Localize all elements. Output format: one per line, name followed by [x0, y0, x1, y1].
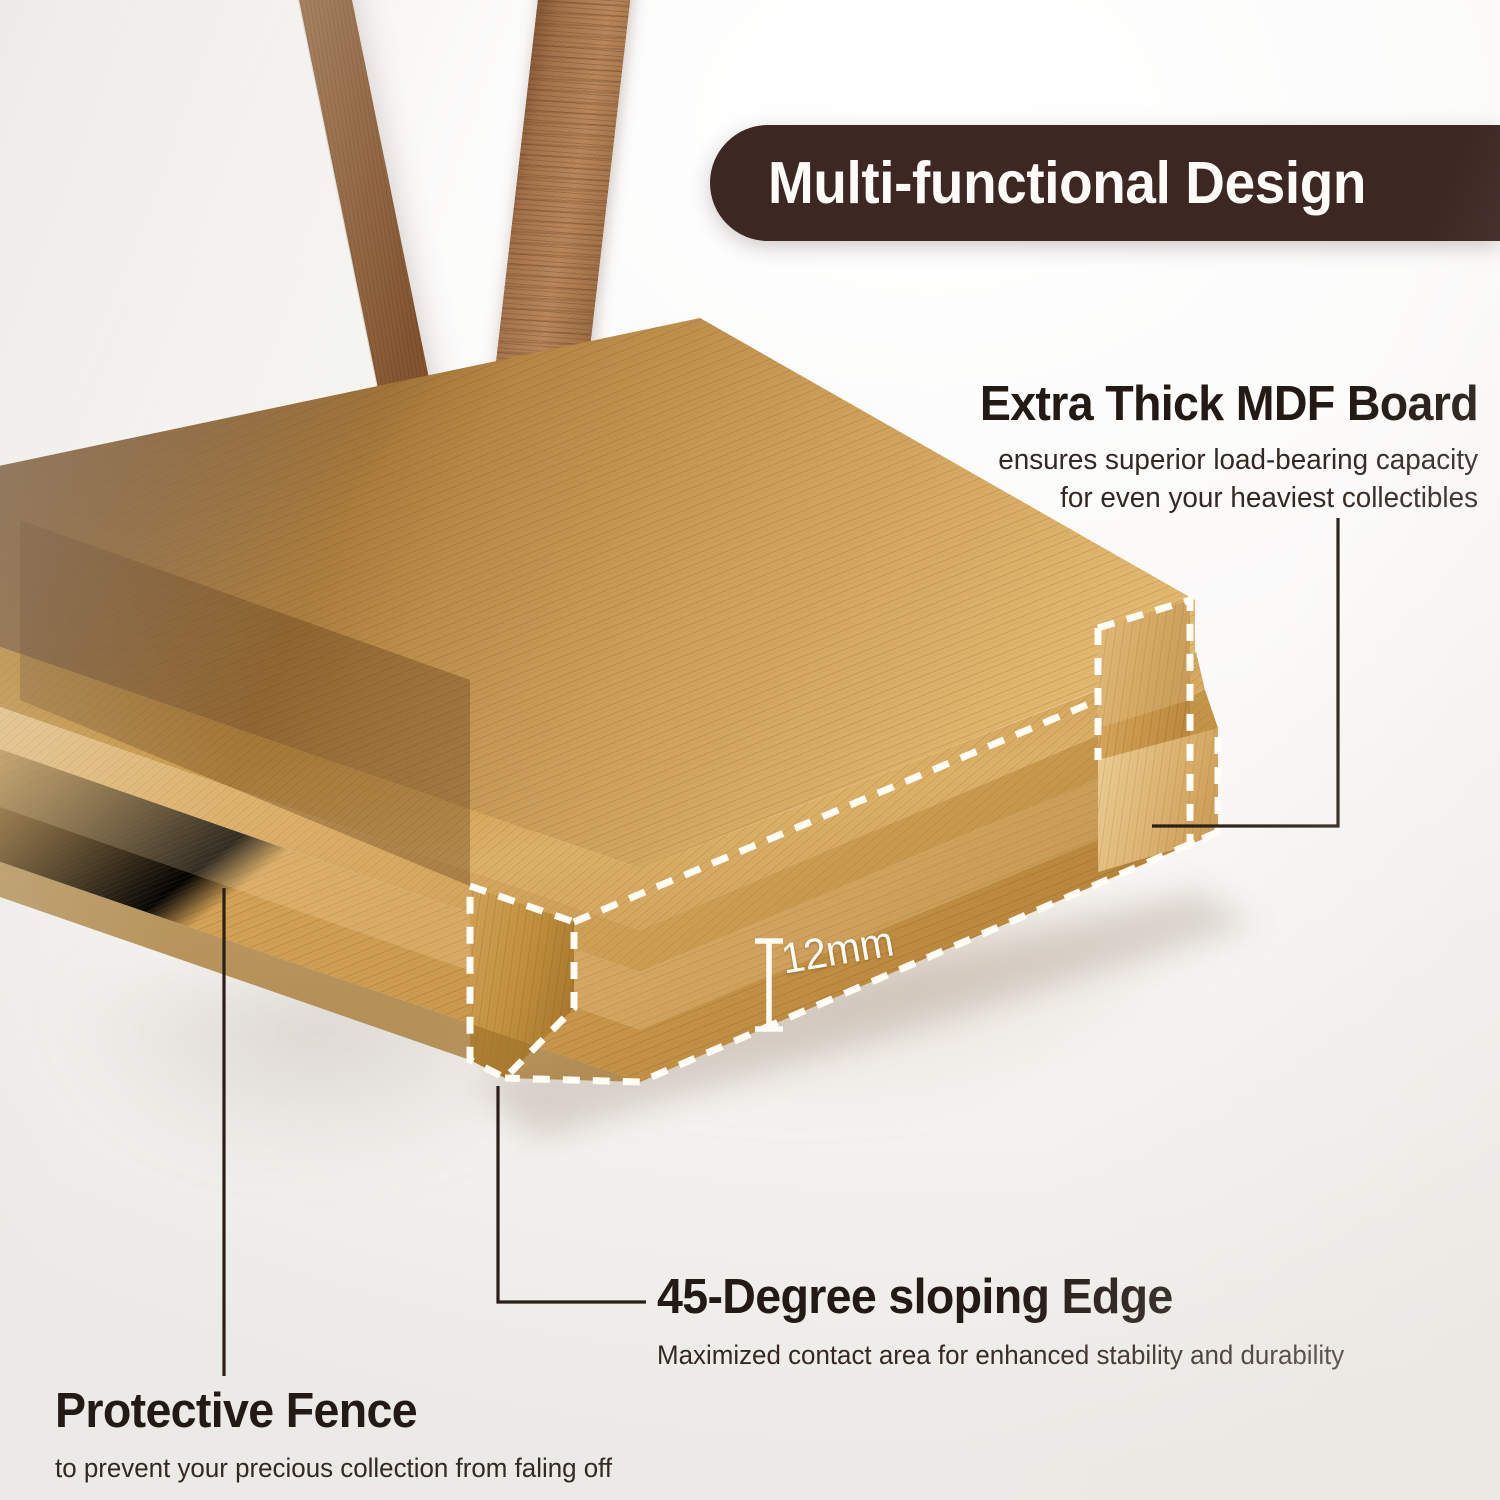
infographic-canvas: 12mm Multi-functional Design Extra Thick…	[0, 0, 1500, 1500]
wall-vignette	[0, 0, 1500, 1500]
